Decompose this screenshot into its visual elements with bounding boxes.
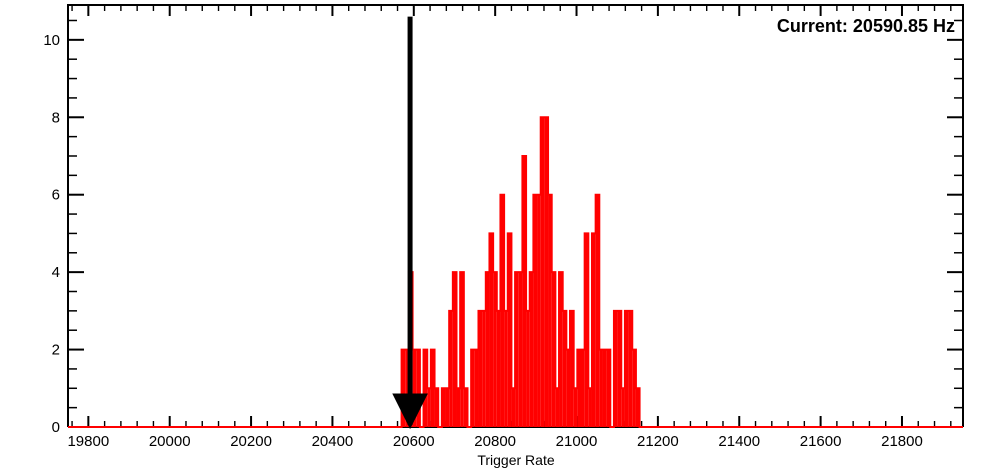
- trigger-rate-histogram[interactable]: 1980020000202002040020600208002100021200…: [0, 0, 996, 472]
- histogram-bin: [519, 272, 523, 427]
- x-tick-label: 20000: [149, 433, 191, 450]
- histogram-bin: [566, 350, 570, 427]
- histogram-bin: [446, 388, 450, 427]
- histogram-bin: [497, 311, 501, 427]
- histogram-bin: [427, 388, 431, 427]
- y-tick-label: 4: [52, 264, 60, 281]
- histogram-bin: [603, 350, 607, 427]
- x-tick-label: 21200: [637, 433, 679, 450]
- x-tick-label: 20200: [230, 433, 272, 450]
- y-tick-label: 2: [52, 342, 60, 359]
- x-tick-label: 20400: [312, 433, 354, 450]
- plot-canvas: 1980020000202002040020600208002100021200…: [0, 0, 996, 472]
- histogram-bin: [574, 388, 578, 427]
- histogram-bin: [581, 350, 585, 427]
- x-tick-label: 20600: [393, 433, 435, 450]
- current-rate-label: Current: 20590.85 Hz: [777, 16, 955, 36]
- y-tick-label: 10: [43, 32, 60, 49]
- histogram-bin: [526, 311, 530, 427]
- histogram-bin: [457, 388, 461, 427]
- x-tick-label: 21600: [800, 433, 842, 450]
- histogram-bin: [555, 388, 559, 427]
- x-tick-label: 20800: [474, 433, 516, 450]
- histogram-bin: [482, 311, 486, 427]
- histogram-bin: [475, 350, 479, 427]
- x-tick-label: 19800: [67, 433, 109, 450]
- histogram-bin: [588, 388, 592, 427]
- y-tick-label: 8: [52, 109, 60, 126]
- y-tick-label: 0: [52, 419, 60, 436]
- x-tick-label: 21400: [718, 433, 760, 450]
- x-tick-label: 21800: [881, 433, 923, 450]
- histogram-bin: [599, 350, 603, 427]
- histogram-bin: [621, 388, 625, 427]
- x-tick-label: 21000: [556, 433, 598, 450]
- histogram-page: 1980020000202002040020600208002100021200…: [0, 0, 996, 472]
- histogram-bin: [537, 195, 541, 427]
- histogram-bin: [504, 311, 508, 427]
- x-axis-title: Trigger Rate: [477, 452, 555, 468]
- histogram-bin: [511, 388, 515, 427]
- y-tick-label: 6: [52, 187, 60, 204]
